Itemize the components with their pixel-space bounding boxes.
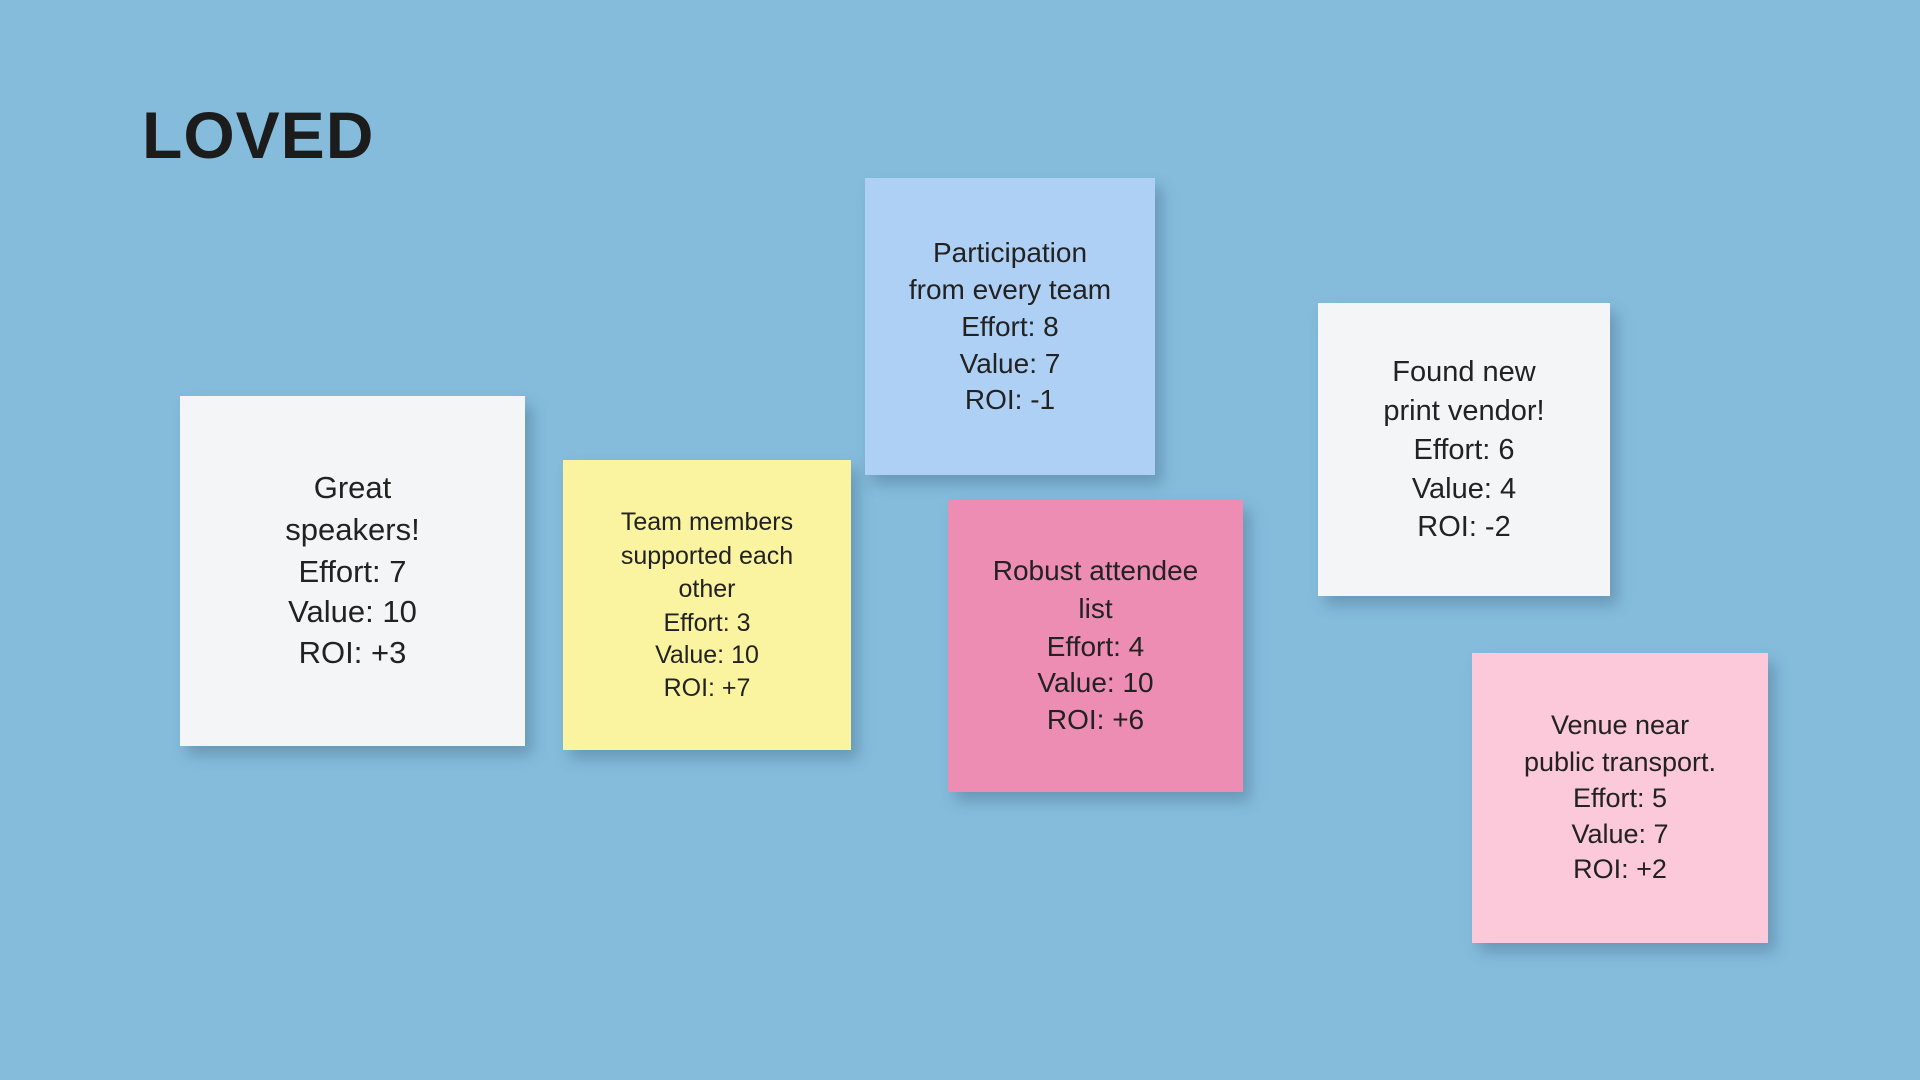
note-effort: Effort: 5 xyxy=(1484,781,1756,817)
sticky-note[interactable]: Team members supported each other Effort… xyxy=(563,460,851,750)
note-roi: ROI: +3 xyxy=(192,633,513,674)
sticky-note[interactable]: Found new print vendor! Effort: 6 Value:… xyxy=(1318,303,1610,596)
note-effort: Effort: 7 xyxy=(192,552,513,593)
note-roi: ROI: +7 xyxy=(575,672,839,705)
note-text-line: Venue near xyxy=(1484,708,1756,744)
note-text-line: list xyxy=(960,591,1231,628)
note-roi: ROI: +2 xyxy=(1484,852,1756,888)
note-roi: ROI: -2 xyxy=(1330,508,1598,546)
note-text-line: supported each xyxy=(575,540,839,573)
note-text-line: print vendor! xyxy=(1330,392,1598,430)
note-text-line: Found new xyxy=(1330,353,1598,391)
note-text-line: Robust attendee xyxy=(960,553,1231,590)
note-text-line: speakers! xyxy=(192,510,513,551)
sticky-note[interactable]: Participation from every team Effort: 8 … xyxy=(865,178,1155,475)
note-text-line: from every team xyxy=(877,272,1143,308)
retrospective-board: LOVED Great speakers! Effort: 7 Value: 1… xyxy=(0,0,1920,1080)
note-effort: Effort: 4 xyxy=(960,629,1231,666)
sticky-note[interactable]: Robust attendee list Effort: 4 Value: 10… xyxy=(948,500,1243,792)
note-effort: Effort: 3 xyxy=(575,607,839,640)
note-text-line: public transport. xyxy=(1484,745,1756,781)
note-value: Value: 7 xyxy=(877,346,1143,382)
note-value: Value: 10 xyxy=(575,639,839,672)
note-effort: Effort: 8 xyxy=(877,309,1143,345)
note-roi: ROI: -1 xyxy=(877,382,1143,418)
note-value: Value: 7 xyxy=(1484,817,1756,853)
note-text-line: Participation xyxy=(877,235,1143,271)
note-text-line: Team members xyxy=(575,506,839,539)
note-value: Value: 4 xyxy=(1330,470,1598,508)
note-effort: Effort: 6 xyxy=(1330,431,1598,469)
note-value: Value: 10 xyxy=(960,665,1231,702)
note-text-line: Great xyxy=(192,468,513,509)
note-value: Value: 10 xyxy=(192,592,513,633)
sticky-note[interactable]: Great speakers! Effort: 7 Value: 10 ROI:… xyxy=(180,396,525,746)
note-roi: ROI: +6 xyxy=(960,702,1231,739)
note-text-line: other xyxy=(575,573,839,606)
page-title: LOVED xyxy=(142,102,374,168)
sticky-note[interactable]: Venue near public transport. Effort: 5 V… xyxy=(1472,653,1768,943)
